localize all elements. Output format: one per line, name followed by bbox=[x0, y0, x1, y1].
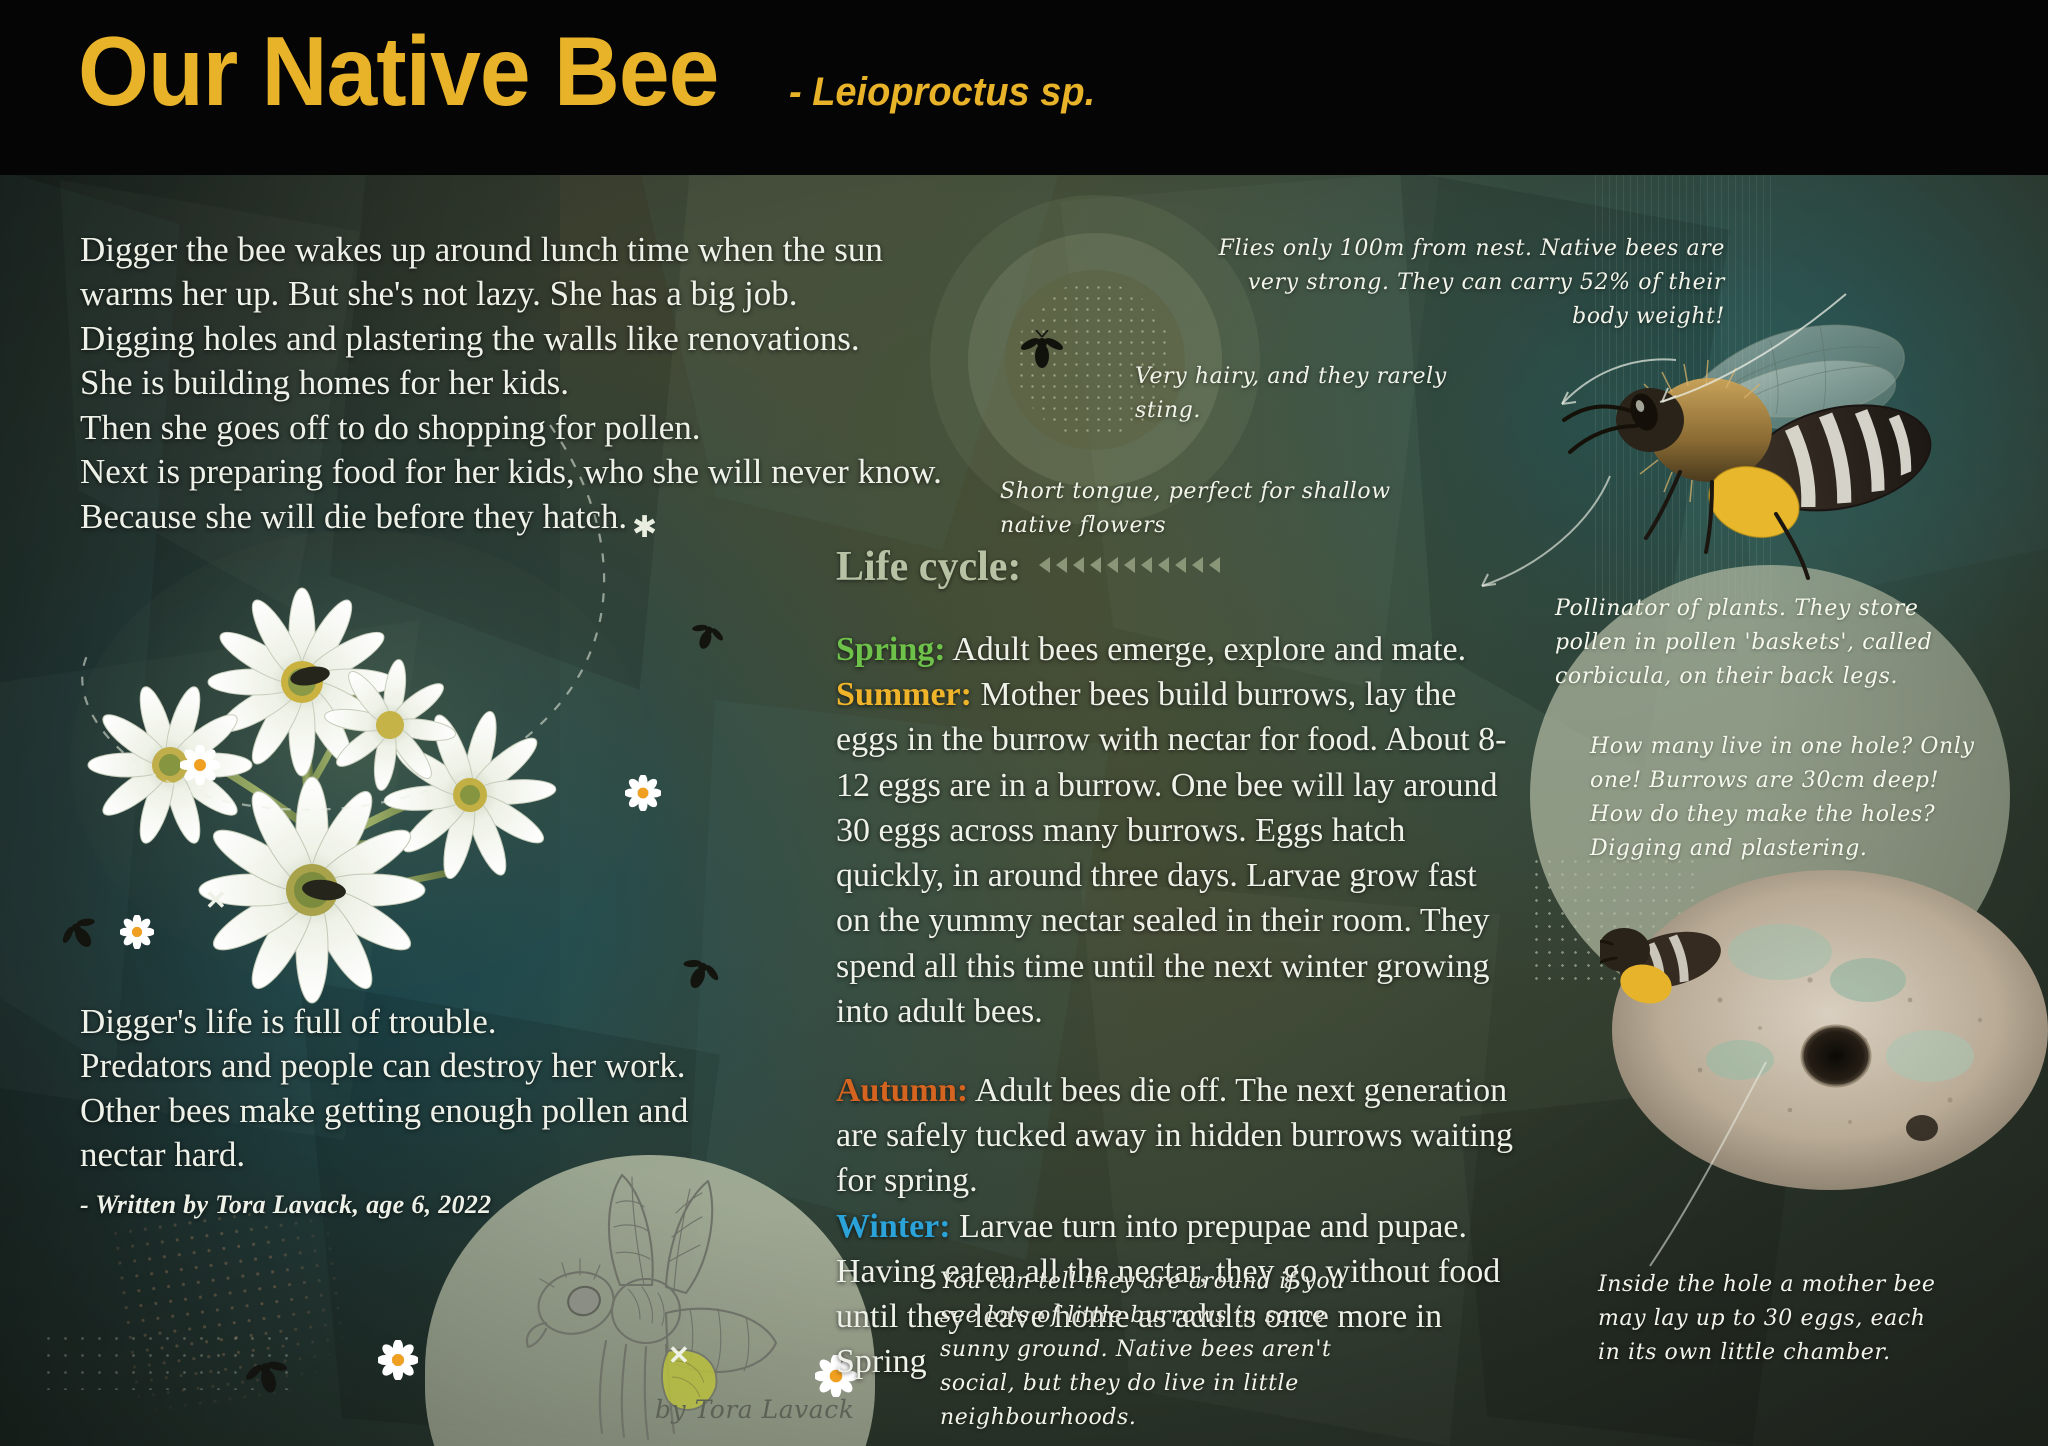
daisy-marker-icon bbox=[180, 745, 220, 785]
story-line: Digger's life is full of trouble. bbox=[80, 1000, 760, 1044]
author-byline: - Written by Tora Lavack, age 6, 2022 bbox=[80, 1188, 760, 1221]
daisy-marker-icon bbox=[120, 915, 154, 949]
header-bar: Our Native Bee - Leioproctus sp. bbox=[0, 0, 2048, 175]
triangle-arrow-icon bbox=[1175, 557, 1186, 573]
note-tongue: Short tongue, perfect for shallow native… bbox=[1000, 475, 1470, 543]
story-line: Then she goes off to do shopping for pol… bbox=[80, 406, 980, 450]
triangle-arrow-icon bbox=[1209, 557, 1220, 573]
season-description: Adult bees emerge, explore and mate. bbox=[946, 631, 1467, 668]
note-burrows: You can tell they are around if you see … bbox=[940, 1265, 1380, 1435]
triangle-arrow-icon bbox=[1124, 557, 1135, 573]
x-marker-icon: ✕ bbox=[668, 1340, 690, 1371]
note-strength: Flies only 100m from nest. Native bees a… bbox=[1185, 232, 1725, 334]
triangle-arrow-icon bbox=[1056, 557, 1067, 573]
page-title: Our Native Bee bbox=[78, 22, 718, 120]
story-line: warms her up. But she's not lazy. She ha… bbox=[80, 272, 980, 316]
poster-canvas: Our Native Bee - Leioproctus sp. bbox=[0, 0, 2048, 1446]
arrow-decoration-icons bbox=[1039, 557, 1220, 577]
story-line: Digger the bee wakes up around lunch tim… bbox=[80, 228, 980, 272]
triangle-arrow-icon bbox=[1073, 557, 1084, 573]
story-line: nectar hard. bbox=[80, 1133, 760, 1177]
triangle-arrow-icon bbox=[1192, 557, 1203, 573]
season-label: Autumn: bbox=[836, 1072, 968, 1109]
season-label: Summer: bbox=[836, 676, 972, 713]
story-line: Other bees make getting enough pollen an… bbox=[80, 1089, 760, 1133]
triangle-arrow-icon bbox=[1039, 557, 1050, 573]
triangle-arrow-icon bbox=[1090, 557, 1101, 573]
lifecycle-section: Life cycle: Spring: Adult bees emerge, e… bbox=[836, 543, 1516, 1385]
bee-silhouette-icon bbox=[1020, 330, 1064, 370]
story-intro-text: Digger the bee wakes up around lunch tim… bbox=[80, 228, 980, 539]
story-line: Digging holes and plastering the walls l… bbox=[80, 317, 980, 361]
page-subtitle: - Leioproctus sp. bbox=[789, 70, 1095, 115]
triangle-arrow-icon bbox=[1158, 557, 1169, 573]
note-hairy: Very hairy, and they rarely sting. bbox=[1135, 360, 1465, 428]
note-inside-hole: Inside the hole a mother bee may lay up … bbox=[1598, 1268, 1938, 1370]
story-trouble-text: Digger's life is full of trouble. Predat… bbox=[80, 1000, 760, 1221]
note-holes: How many live in one hole? Only one! Bur… bbox=[1590, 730, 1990, 866]
triangle-arrow-icon bbox=[1141, 557, 1152, 573]
daisy-marker-icon bbox=[625, 775, 661, 811]
season-description: Mother bees build burrows, lay the eggs … bbox=[836, 676, 1506, 1030]
story-line: Because she will die before they hatch. bbox=[80, 495, 980, 539]
story-line: Predators and people can destroy her wor… bbox=[80, 1044, 760, 1088]
season-label: Winter: bbox=[836, 1208, 951, 1245]
story-line: Next is preparing food for her kids, who… bbox=[80, 450, 980, 494]
lifecycle-paragraph: Spring: Adult bees emerge, explore and m… bbox=[836, 627, 1516, 1034]
sketch-credit: by Tora Lavack bbox=[655, 1395, 854, 1424]
story-line: She is building homes for her kids. bbox=[80, 361, 980, 405]
note-pollinator: Pollinator of plants. They store pollen … bbox=[1555, 592, 1975, 694]
nest-photograph bbox=[1600, 860, 2048, 1200]
triangle-arrow-icon bbox=[1107, 557, 1118, 573]
bee-photograph bbox=[1540, 300, 1970, 590]
daisy-marker-icon bbox=[378, 1340, 418, 1380]
x-marker-icon: ✕ bbox=[205, 885, 227, 916]
season-label: Spring: bbox=[836, 631, 946, 668]
lifecycle-heading: Life cycle: bbox=[836, 543, 1021, 591]
